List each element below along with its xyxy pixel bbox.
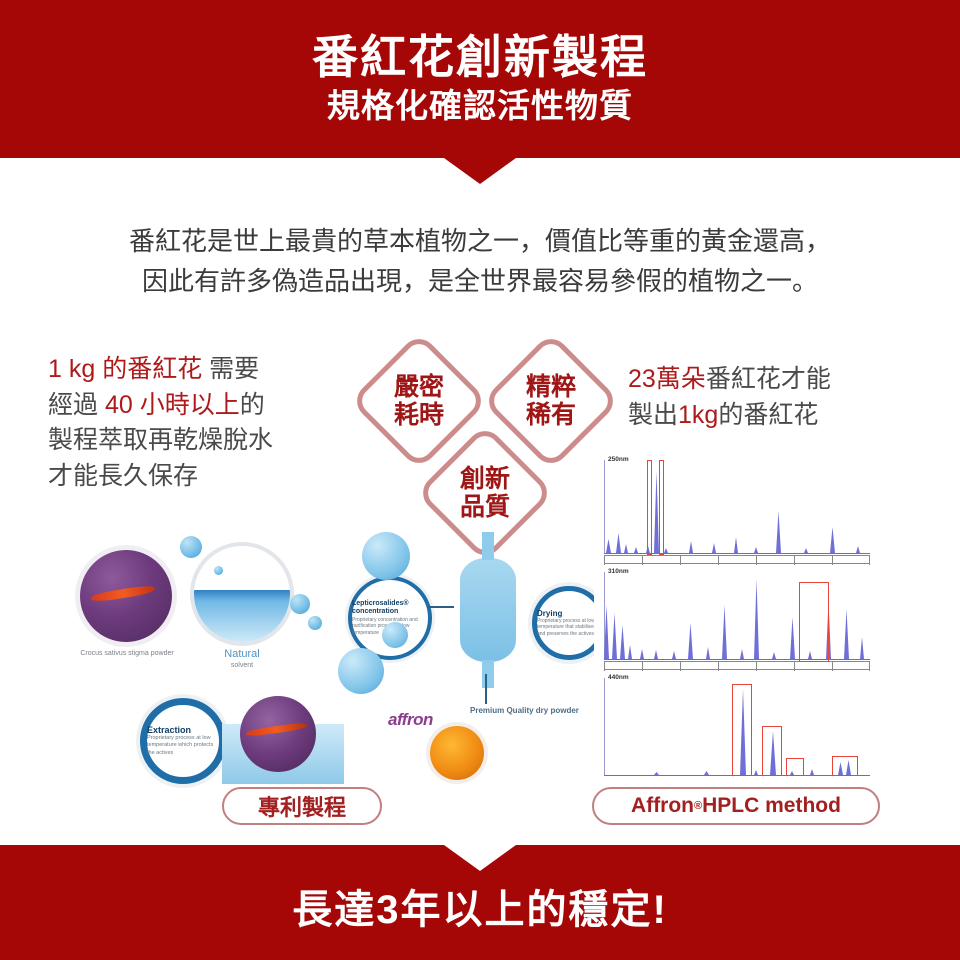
extraction-sub: Proprietary process at low temperature w… [147, 735, 219, 756]
solvent-caption: Natural solvent [192, 648, 292, 671]
left-highlight-1kg: 1 kg 的番紅花 [48, 355, 209, 383]
flow-arrow-down-icon [485, 674, 487, 704]
hplc-label-250nm: 250nm [608, 456, 629, 463]
drying-sub: Proprietary process at low temperature t… [537, 618, 601, 638]
right-line-2: 製出1kg的番紅花 [628, 398, 928, 434]
left-line-1: 1 kg 的番紅花 需要 [48, 352, 368, 388]
process-diagram: Crocus sativus stigma powder Natural sol… [62, 528, 582, 790]
extraction-title: Extraction [147, 725, 191, 735]
hplc-label-440nm: 440nm [608, 674, 629, 681]
hplc-x-axis [604, 553, 870, 554]
hplc-x-axis [604, 659, 870, 660]
header-notch-arrow [444, 158, 516, 184]
left-text-need: 需要 [209, 355, 259, 383]
molecule-bubble-icon [338, 648, 384, 694]
hplc-highlight-box [762, 726, 782, 776]
header-banner: 番紅花創新製程 規格化確認活性物質 [0, 0, 960, 158]
saffron-powder-photo [430, 726, 484, 780]
natural-solvent-photo [194, 546, 290, 642]
left-line-4: 才能長久保存 [48, 459, 368, 495]
hplc-method-pill[interactable]: Affron® HPLC method [592, 787, 880, 825]
bubble-icon [180, 536, 202, 558]
bubble-icon [214, 566, 223, 575]
diamond-2-line-2: 稀有 [526, 401, 576, 429]
concentration-title: Lepticrosalides® concentration [352, 600, 409, 615]
solvent-sub: solvent [192, 662, 292, 671]
page-subtitle: 規格化確認活性物質 [327, 87, 633, 125]
hplc-pill-rest: HPLC method [702, 794, 841, 818]
bubble-icon [290, 594, 310, 614]
hplc-pill-brand: Affron [631, 794, 694, 818]
patented-process-pill[interactable]: 專利製程 [222, 787, 382, 825]
left-description: 1 kg 的番紅花 需要 經過 40 小時以上的 製程萃取再乾燥脫水 才能長久保… [48, 352, 368, 494]
extraction-title-wrap: Extraction Proprietary process at low te… [147, 725, 219, 756]
left-text-after: 經過 [48, 391, 105, 419]
right-description: 23萬朵番紅花才能 製出1kg的番紅花 [628, 362, 928, 433]
saffron-inset-photo [240, 696, 316, 772]
diamond-1-line-2: 耗時 [394, 401, 444, 429]
hplc-tick-strip [604, 555, 870, 564]
left-highlight-40hr: 40 小時以上 [105, 391, 240, 419]
right-highlight-1kg: 1kg [678, 401, 718, 429]
intro-line-1: 番紅花是世上最貴的草本植物之一，價值比等重的黃金還高， [0, 222, 960, 262]
hplc-highlight-box [799, 582, 829, 662]
intro-paragraph: 番紅花是世上最貴的草本植物之一，價值比等重的黃金還高， 因此有許多偽造品出現，是… [0, 222, 960, 301]
hplc-y-axis [604, 678, 605, 776]
left-text-of: 的 [240, 391, 265, 419]
molecule-bubble-icon [382, 622, 408, 648]
hplc-label-310nm: 310nm [608, 568, 629, 575]
affron-logo: affron [388, 710, 433, 730]
hplc-highlight-box [786, 758, 804, 776]
bubble-icon [308, 616, 322, 630]
intro-line-2: 因此有許多偽造品出現，是全世界最容易參假的植物之一。 [0, 262, 960, 302]
registered-mark-icon: ® [694, 800, 702, 812]
diamond-label-1: 嚴密 耗時 [394, 373, 444, 429]
diamond-1-line-1: 嚴密 [394, 373, 444, 401]
drying-title-wrap: Drying Proprietary process at low temper… [537, 609, 601, 638]
right-text-saffron: 番紅花才能 [706, 365, 831, 393]
diamond-3-line-2: 品質 [460, 493, 510, 521]
hplc-y-axis [604, 460, 605, 554]
footer-title: 長達3年以上的穩定! [292, 877, 668, 935]
flower-caption: Crocus sativus stigma powder [68, 650, 186, 659]
footer-notch-arrow [444, 845, 516, 871]
diamond-label-2: 精粹 稀有 [526, 373, 576, 429]
page-title: 番紅花創新製程 [312, 33, 648, 83]
hplc-highlight-box [659, 460, 664, 555]
diamond-2-line-1: 精粹 [526, 373, 576, 401]
right-text-produce: 製出 [628, 401, 678, 429]
reactor-vessel-icon [460, 558, 516, 662]
solvent-title: Natural [224, 648, 259, 660]
right-line-1: 23萬朵番紅花才能 [628, 362, 928, 398]
saffron-flower-photo [80, 550, 172, 642]
drying-title: Drying [537, 609, 562, 618]
left-line-2: 經過 40 小時以上的 [48, 388, 368, 424]
right-text-of-saffron: 的番紅花 [718, 401, 818, 429]
molecule-bubble-icon [362, 532, 410, 580]
hplc-panel-250nm: 250nm [594, 452, 878, 564]
hplc-highlight-box [832, 756, 858, 776]
hplc-panel-440nm: 440nm [594, 670, 878, 786]
extraction-step: Extraction Proprietary process at low te… [140, 698, 226, 784]
hplc-panel-310nm: 310nm [594, 564, 878, 670]
hplc-chart: 250nm 310nm [594, 452, 878, 786]
hplc-highlight-box [647, 460, 652, 555]
hplc-highlight-box [732, 684, 752, 776]
right-highlight-230k: 23萬朵 [628, 365, 706, 393]
diamond-label-3: 創新 品質 [460, 465, 510, 521]
output-caption: Premium Quality dry powder [470, 706, 580, 717]
diamond-3-line-1: 創新 [460, 465, 510, 493]
flow-arrow-right-icon [428, 606, 454, 608]
left-line-3: 製程萃取再乾燥脫水 [48, 423, 368, 459]
hplc-tick-strip [604, 661, 870, 670]
